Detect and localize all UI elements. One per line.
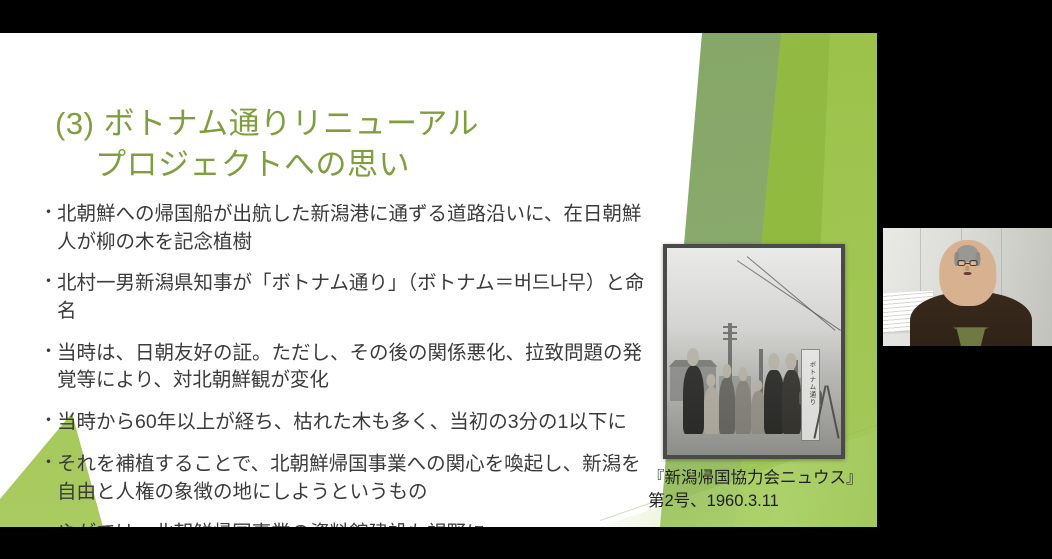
- video-participant-head: [939, 240, 996, 306]
- bullet-text: 当時から60年以上が経ち、枯れた木も多く、当初の3分の1以下に: [57, 409, 660, 437]
- bullet-text: 当時は、日朝友好の証。ただし、その後の関係悪化、拉致問題の発覚等により、対北朝鮮…: [57, 340, 660, 395]
- historical-photo: ボトナム通り: [663, 244, 845, 459]
- video-participant-mouth: [964, 272, 971, 276]
- list-item: ・ 当時は、日朝友好の証。ただし、その後の関係悪化、拉致問題の発覚等により、対北…: [40, 340, 660, 395]
- photo-content: ボトナム通り: [667, 248, 841, 455]
- list-item: ・ 当時から60年以上が経ち、枯れた木も多く、当初の3分の1以下に: [40, 409, 660, 437]
- bullet-text: それを補植することで、北朝鮮帰国事業への関心を喚起し、新潟を自由と人権の象徴の地…: [57, 451, 660, 506]
- shared-slide[interactable]: (3) ボトナム通りリニューアル プロジェクトへの思い ・ 北朝鮮への帰国船が出…: [0, 33, 877, 527]
- slide-bullet-list: ・ 北朝鮮への帰国船が出航した新潟港に通ずる道路沿いに、在日朝鮮人が柳の木を記念…: [40, 201, 660, 527]
- video-participant-nose: [965, 266, 969, 271]
- slide-title-line1: (3) ボトナム通りリニューアル: [55, 106, 479, 141]
- photo-caption: 『新潟帰国協力会ニュウス』第2号、1960.3.11: [648, 467, 858, 513]
- slide-title-line2: プロジェクトへの思い: [55, 144, 675, 185]
- bullet-marker: ・: [40, 520, 57, 527]
- bullet-marker: ・: [40, 451, 57, 475]
- bullet-text: やがては、北朝鮮帰国事業の資料館建設も視野に: [57, 520, 660, 527]
- bullet-marker: ・: [40, 201, 57, 225]
- bullet-marker: ・: [40, 409, 57, 433]
- list-item: ・ 北朝鮮への帰国船が出航した新潟港に通ずる道路沿いに、在日朝鮮人が柳の木を記念…: [40, 201, 660, 256]
- slide-title: (3) ボトナム通りリニューアル プロジェクトへの思い: [55, 103, 675, 185]
- video-participant-shirt: [956, 327, 985, 346]
- list-item: ・ 北村一男新潟県知事が「ボトナム通り」（ボトナム＝버드나무）と命名: [40, 270, 660, 325]
- meeting-screen: (3) ボトナム通りリニューアル プロジェクトへの思い ・ 北朝鮮への帰国船が出…: [0, 0, 1052, 559]
- bullet-marker: ・: [40, 270, 57, 294]
- list-item: ・ やがては、北朝鮮帰国事業の資料館建設も視野に: [40, 520, 660, 527]
- speaker-video-tile[interactable]: [883, 228, 1052, 346]
- bullet-text: 北朝鮮への帰国船が出航した新潟港に通ずる道路沿いに、在日朝鮮人が柳の木を記念植樹: [57, 201, 660, 256]
- list-item: ・ それを補植することで、北朝鮮帰国事業への関心を喚起し、新潟を自由と人権の象徴…: [40, 451, 660, 506]
- bullet-marker: ・: [40, 340, 57, 364]
- bullet-text: 北村一男新潟県知事が「ボトナム通り」（ボトナム＝버드나무）と命名: [57, 270, 660, 325]
- photo-grain-overlay: [667, 248, 841, 455]
